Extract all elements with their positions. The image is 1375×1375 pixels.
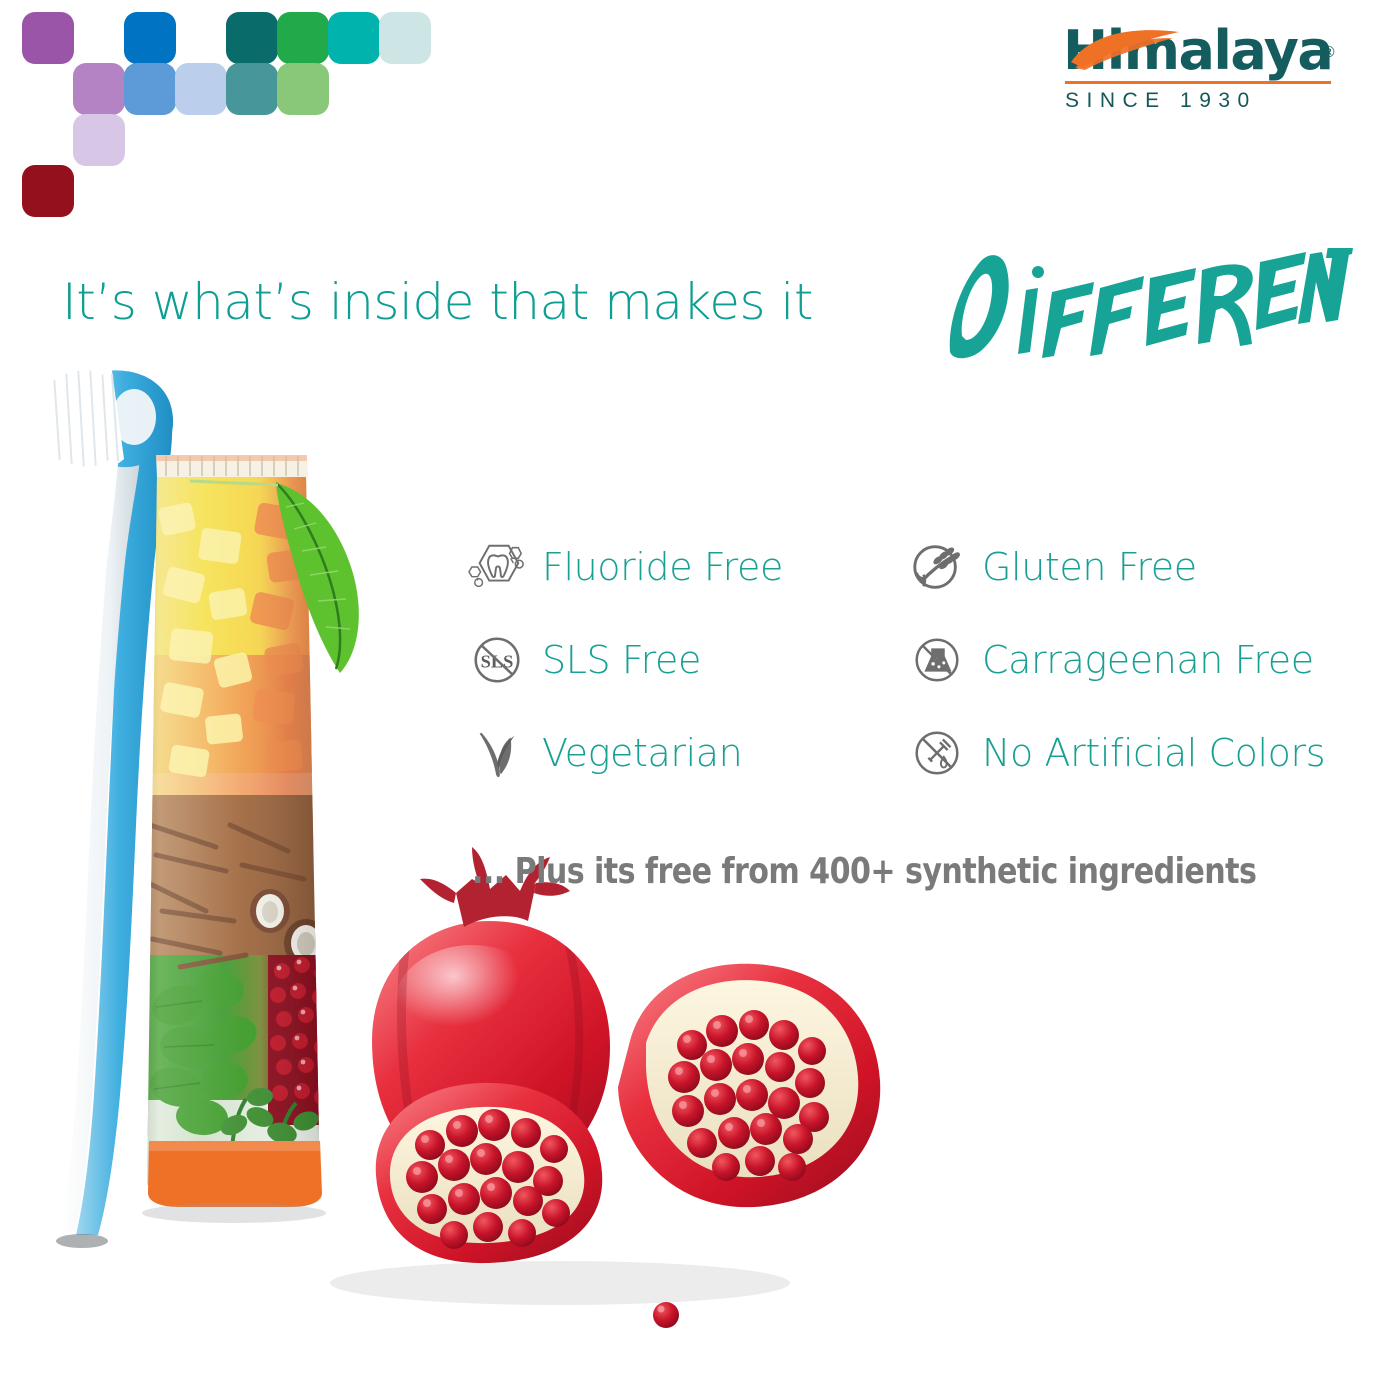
no-beaker-icon — [908, 631, 966, 689]
feature-label-no-artificial-colors: No Artificial Colors — [982, 731, 1325, 775]
feature-item-no-artificial-colors[interactable]: No Artificial Colors — [908, 706, 1348, 799]
no-gluten-wheat-icon — [908, 538, 966, 596]
vegetarian-sprout-icon — [468, 724, 526, 782]
decor-square-10 — [277, 63, 329, 115]
tagline-text: ... Plus its free from 400+ synthetic in… — [472, 851, 1256, 892]
himalaya-logo: Himalaya ® SINCE 1930 — [1061, 22, 1331, 113]
decor-square-7 — [124, 63, 176, 115]
no-sls-icon: SLS — [468, 631, 526, 689]
decor-square-6 — [73, 63, 125, 115]
decor-square-4 — [328, 12, 380, 64]
feature-label-carrageenan-free: Carrageenan Free — [982, 638, 1314, 682]
decor-square-3 — [277, 12, 329, 64]
headline-emphasis-different: DIFFERENT — [934, 248, 1354, 366]
tube-crimp-seal — [156, 455, 308, 477]
feature-item-sls-free[interactable]: SLS SLS Free — [468, 613, 898, 706]
feature-label-vegetarian: Vegetarian — [542, 731, 742, 775]
feature-column-left: Fluoride Free SLS SLS Free Vegetarian — [468, 520, 898, 799]
feature-label-gluten-free: Gluten Free — [982, 545, 1197, 589]
tooth-hexagon-icon — [468, 538, 526, 596]
decor-square-8 — [175, 63, 227, 115]
decor-square-5 — [379, 12, 431, 64]
no-dropper-icon — [908, 724, 966, 782]
logo-wordmark: Himalaya ® — [1061, 22, 1331, 80]
decor-square-2 — [226, 12, 278, 64]
decor-square-0 — [22, 12, 74, 64]
decorative-square-grid — [0, 0, 400, 200]
sls-text: SLS — [481, 651, 514, 671]
feature-item-carrageenan-free[interactable]: Carrageenan Free — [908, 613, 1348, 706]
toothpaste-tube — [130, 455, 359, 1223]
headline: It’s what’s inside that makes it DIFFERE… — [62, 262, 1322, 352]
pomegranate-half-front — [376, 1083, 602, 1263]
pomegranate-group — [330, 847, 880, 1328]
decor-square-1 — [124, 12, 176, 64]
feature-item-vegetarian[interactable]: Vegetarian — [468, 706, 898, 799]
headline-lead: It’s what’s inside that makes it — [62, 270, 813, 334]
feature-item-gluten-free[interactable]: Gluten Free — [908, 520, 1348, 613]
feature-label-sls-free: SLS Free — [542, 638, 701, 682]
feature-column-right: Gluten Free Carrageenan Free — [908, 520, 1348, 799]
feature-item-fluoride-free[interactable]: Fluoride Free — [468, 520, 898, 613]
decor-square-9 — [226, 63, 278, 115]
toothbrush-bristles — [46, 361, 124, 476]
pomegranate-half-right — [618, 964, 880, 1207]
logo-wordmark-text: Himalaya — [1063, 19, 1332, 82]
feature-label-fluoride-free: Fluoride Free — [542, 545, 783, 589]
logo-since-text: SINCE 1930 — [1061, 89, 1331, 113]
pomegranate-stray-aril — [653, 1302, 679, 1328]
decor-square-12 — [22, 165, 74, 217]
registered-trademark-icon: ® — [1323, 24, 1333, 82]
decor-square-11 — [73, 114, 125, 166]
